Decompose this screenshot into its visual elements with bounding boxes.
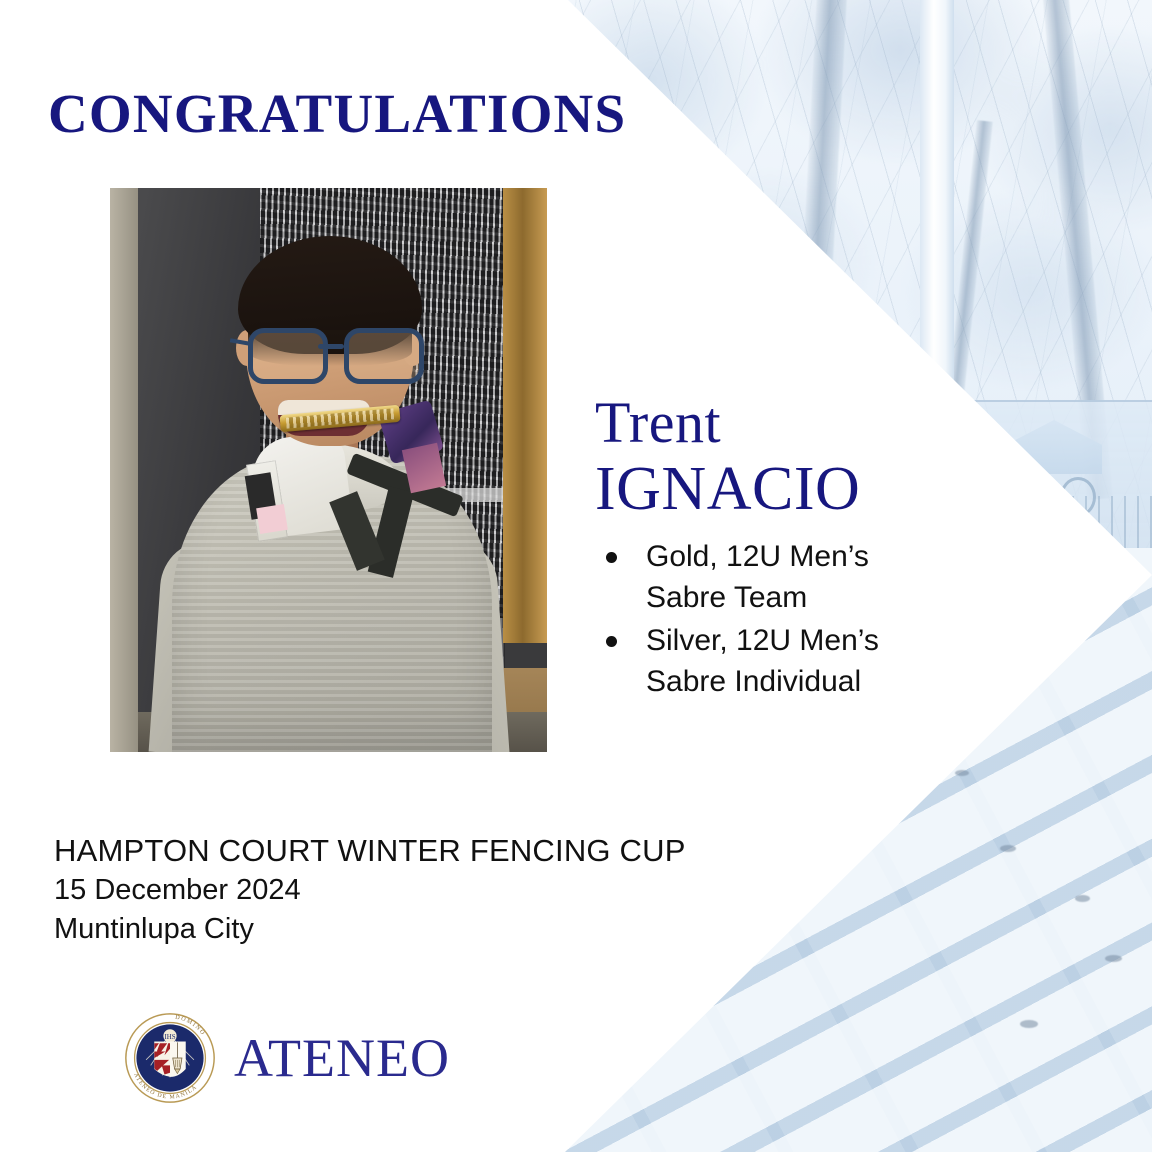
award-list-item: Silver, 12U Men’s Sabre Individual <box>600 620 930 702</box>
ground-speck <box>1075 895 1090 902</box>
award-label: Silver, 12U Men’s Sabre Individual <box>646 624 879 698</box>
bullet-icon <box>606 552 617 563</box>
eyeglasses-bridge <box>318 344 344 349</box>
eyeglasses-right-lens <box>344 328 424 384</box>
figure-bib-pink-tag <box>256 504 288 534</box>
award-list-item: Gold, 12U Men’s Sabre Team <box>600 536 930 618</box>
ateneo-brand-lockup: IHS <box>124 1012 450 1104</box>
award-label: Gold, 12U Men’s Sabre Team <box>646 540 869 614</box>
figure-eyeglasses <box>244 328 420 374</box>
event-date: 15 December 2024 <box>54 871 686 910</box>
congratulations-poster: CONGRATULATIONS <box>0 0 1152 1152</box>
ground-speck <box>1105 955 1122 962</box>
page-title: CONGRATULATIONS <box>48 82 626 145</box>
bullet-icon <box>606 636 617 647</box>
ground-speck <box>1000 845 1016 852</box>
athlete-name: Trent IGNACIO <box>595 392 860 524</box>
eyeglasses-left-lens <box>248 328 328 384</box>
photo-subject-figure <box>110 188 547 752</box>
ateneo-seal-icon: IHS <box>124 1012 216 1104</box>
svg-text:IHS: IHS <box>164 1034 175 1041</box>
athlete-photo <box>110 188 547 752</box>
ground-speck <box>1020 1020 1038 1028</box>
athlete-last-name: IGNACIO <box>595 454 860 524</box>
event-name: HAMPTON COURT WINTER FENCING CUP <box>54 831 686 871</box>
award-list: Gold, 12U Men’s Sabre Team Silver, 12U M… <box>600 536 930 704</box>
event-location: Muntinlupa City <box>54 910 686 949</box>
ateneo-wordmark: ATENEO <box>234 1031 450 1085</box>
event-details: HAMPTON COURT WINTER FENCING CUP 15 Dece… <box>54 831 686 949</box>
ground-speck <box>955 770 969 776</box>
athlete-first-name: Trent <box>595 392 860 454</box>
